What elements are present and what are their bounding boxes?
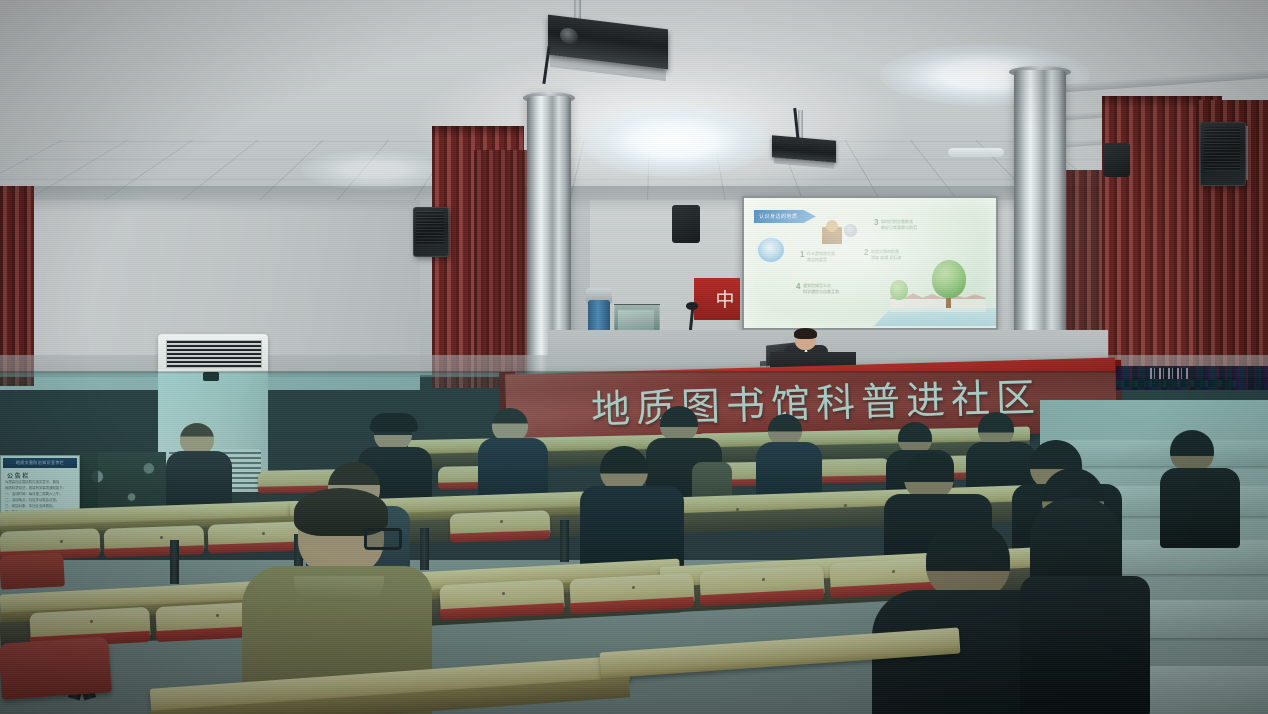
speaker-icon-back <box>1104 143 1130 177</box>
seat-screw <box>216 614 219 617</box>
seat-screw <box>762 578 765 581</box>
notice-board-header-text: 地质灾害防治知识宣传栏 <box>3 458 77 468</box>
light-icon-far <box>300 150 450 190</box>
person-head <box>1170 430 1214 472</box>
slide-arrow-banner: 认识身边的地质 <box>754 210 816 223</box>
microphone-icon <box>686 302 698 310</box>
glasses-icon <box>364 528 402 550</box>
curtain-header <box>432 126 524 138</box>
slide-circle-icon <box>756 236 786 264</box>
glitch-artifact-highlight <box>1150 368 1190 379</box>
desk-leg <box>560 520 569 562</box>
person-torso <box>756 442 822 498</box>
slide-item-text: 遇到险情怎么办 科学避险与自救互救 <box>803 283 839 295</box>
seat-screw <box>500 520 503 523</box>
notice-board-title: 公 告 栏 <box>7 471 28 480</box>
stair-step <box>1050 440 1268 466</box>
person-cap-icon <box>370 413 418 432</box>
seat-screw <box>262 532 265 535</box>
seat-screw <box>632 586 635 589</box>
slide-figure-icon <box>822 220 842 244</box>
person-torso <box>1020 576 1150 714</box>
desk-leg <box>170 540 179 584</box>
chair-back-red <box>0 552 65 589</box>
slide-arrow-label: 认识身边的地质 <box>754 210 816 220</box>
projection-screen: 认识身边的地质 3 如何识别灾害前兆 做好日常观察与防范 1 什么是地质灾害 常… <box>744 198 996 328</box>
slide-item-text: 什么是地质灾害 常见的类型 <box>807 251 835 263</box>
chair-back-red <box>0 636 112 700</box>
slide-item-num: 2 <box>864 248 868 257</box>
desk-leg <box>420 528 429 570</box>
slide-badge-icon <box>844 224 857 237</box>
person-head <box>660 406 698 442</box>
person-head <box>926 520 1010 600</box>
seat-screw <box>160 536 163 539</box>
seat-screw <box>502 592 505 595</box>
person-collar <box>294 576 384 602</box>
seat-screw <box>736 508 739 511</box>
slide-item-num: 4 <box>796 282 800 291</box>
lecture-hall-photo: 认识身边的地质 3 如何识别灾害前兆 做好日常观察与防范 1 什么是地质灾害 常… <box>0 0 1268 714</box>
color-grade-seam <box>0 371 1268 374</box>
red-wall-sign-character: 中 <box>714 288 736 312</box>
air-conditioner-vent-top <box>166 340 262 368</box>
person-head <box>978 412 1014 446</box>
seat-screw <box>844 504 847 507</box>
glitch-artifact-band <box>1116 380 1236 387</box>
light-icon-main <box>580 105 770 177</box>
light-icon-tube <box>948 148 1004 157</box>
seat-screw <box>60 540 63 543</box>
person-head <box>904 452 954 500</box>
slide-item-text: 地质灾害的危害 滑坡 崩塌 泥石流 <box>871 249 901 261</box>
speaker-grill <box>1204 127 1240 171</box>
slide-tree-icon-large <box>932 260 966 298</box>
slide-item-text: 如何识别灾害前兆 做好日常观察与防范 <box>881 219 917 231</box>
person-torso <box>1160 468 1240 548</box>
seat-screw <box>90 620 93 623</box>
slide-item-num: 3 <box>874 218 878 227</box>
person-head <box>492 408 528 442</box>
slide-tree-icon-small <box>890 280 908 300</box>
curtain-left-inner <box>474 150 534 388</box>
notice-board-header: 地质灾害防治知识宣传栏 <box>3 458 77 468</box>
slide-item-num: 1 <box>800 250 804 259</box>
speaker-grill <box>416 211 444 245</box>
seat-screw <box>892 570 895 573</box>
presenter-hair <box>794 328 817 339</box>
speaker-icon-mid <box>672 205 700 243</box>
